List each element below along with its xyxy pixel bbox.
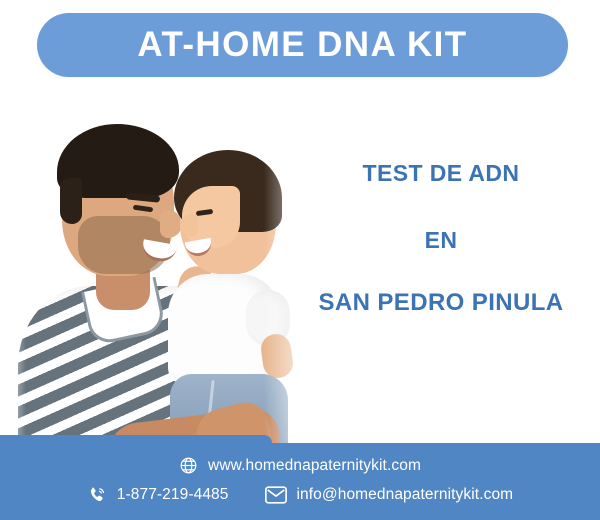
contact-email[interactable]: info@homednapaternitykit.com: [265, 486, 514, 504]
email-text: info@homednapaternitykit.com: [297, 486, 514, 504]
phone-icon: [87, 485, 107, 505]
man-sideburn: [60, 178, 82, 224]
headline-line-3: SAN PEDRO PINULA: [300, 289, 582, 317]
envelope-icon: [265, 486, 287, 504]
poster-canvas: AT-HOME DNA KIT: [0, 0, 600, 520]
footer-notch: [0, 435, 272, 443]
headline-line-1: TEST DE ADN: [300, 160, 582, 187]
globe-icon: [179, 456, 198, 475]
contact-phone[interactable]: 1-877-219-4485: [87, 485, 229, 505]
child-nose: [180, 214, 198, 236]
photo-stage: [0, 78, 320, 458]
footer-row-website: www.homednapaternitykit.com: [0, 456, 600, 475]
footer-contact-bar: www.homednapaternitykit.com 1-877-219-44…: [0, 443, 600, 520]
header-banner: AT-HOME DNA KIT: [37, 13, 568, 77]
footer-row-phone-email: 1-877-219-4485 info@homednapaternitykit.…: [0, 485, 600, 505]
website-text: www.homednapaternitykit.com: [208, 457, 421, 475]
page-title: AT-HOME DNA KIT: [137, 25, 467, 65]
contact-website[interactable]: www.homednapaternitykit.com: [179, 456, 421, 475]
headline-line-2: EN: [300, 227, 582, 254]
headline-block: TEST DE ADN EN SAN PEDRO PINULA: [300, 160, 582, 317]
phone-text: 1-877-219-4485: [117, 486, 229, 504]
hero-photo: [0, 78, 320, 458]
